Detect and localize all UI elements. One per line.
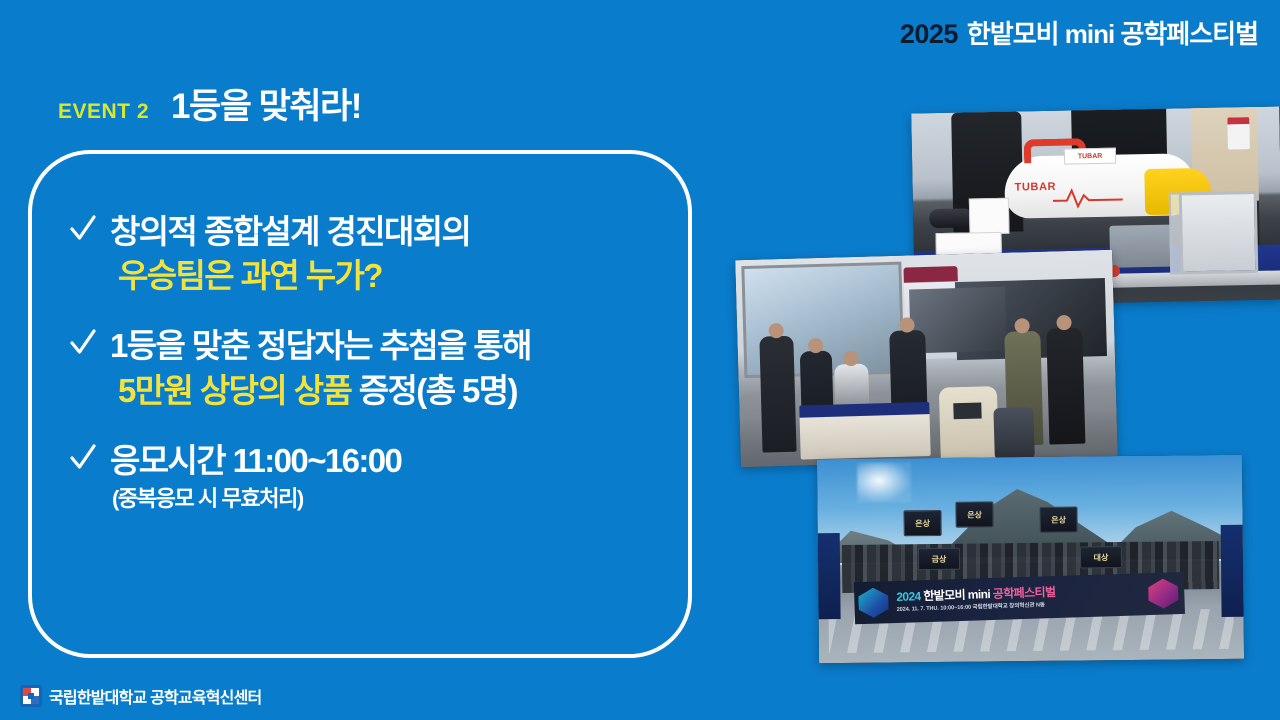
- event-title-row: EVENT 2 1등을 맞춰라!: [58, 78, 361, 129]
- banner-year: 2024: [896, 589, 921, 604]
- award-placard: 은상: [1039, 507, 1077, 533]
- check-icon: [70, 214, 96, 250]
- hanbat-university-logo-icon: [20, 685, 42, 707]
- footer: 국립한밭대학교 공학교육혁신센터: [20, 684, 261, 708]
- page-title: 1등을 맞춰라!: [171, 78, 361, 129]
- check-icon: [70, 328, 96, 364]
- award-placard: 은상: [903, 510, 941, 536]
- check-icon: [70, 443, 96, 479]
- photo-student-team-booth: 창의적 종합설계 경진대회 부스 앞 학생 팀 단체 사진: [735, 250, 1118, 467]
- award-placard: 은상: [955, 501, 993, 527]
- bullet-item: 1등을 맞춘 정답자는 추첨을 통해 5만원 상당의 상품 증정(총 5명): [70, 324, 654, 412]
- bullet-highlight: 우승팀은 과연 누가?: [118, 257, 382, 294]
- banner-name-2: 공학페스티벌: [993, 585, 1056, 601]
- bullet-line-2: 우승팀은 과연 누가?: [110, 254, 654, 298]
- bullet-note: (중복응모 시 무효처리): [110, 485, 654, 514]
- photo-group-award-banner: 은상 은상 은상 금상 대상 2024 한밭모비 mini 공학페스티벌 202…: [817, 455, 1244, 663]
- bullet-item: 응모시간 11:00~16:00 (중복응모 시 무효처리): [70, 439, 654, 514]
- device-label: TUBAR: [1015, 181, 1057, 194]
- bullet-body: 1등을 맞춘 정답자는 추첨을 통해 5만원 상당의 상품 증정(총 5명): [110, 324, 654, 412]
- bullet-body: 창의적 종합설계 경진대회의 우승팀은 과연 누가?: [110, 210, 654, 298]
- brand-festival-name: 한밭모비 mini 공학페스티벌: [967, 14, 1258, 51]
- brand-year: 2025: [900, 19, 958, 50]
- bullet-body: 응모시간 11:00~16:00 (중복응모 시 무효처리): [110, 439, 654, 514]
- slide-root: 2025 한밭모비 mini 공학페스티벌 EVENT 2 1등을 맞춰라! 창…: [0, 0, 1280, 720]
- bullet-tail: 증정(총 5명): [351, 372, 517, 409]
- event-tag: EVENT 2: [58, 100, 149, 124]
- award-placard: 금상: [918, 548, 960, 570]
- bullet-line-2: 5만원 상당의 상품 증정(총 5명): [110, 369, 654, 413]
- bullet-line-1: 응모시간 11:00~16:00: [110, 439, 654, 483]
- brand-bar: 2025 한밭모비 mini 공학페스티벌: [900, 14, 1258, 51]
- bullet-item: 창의적 종합설계 경진대회의 우승팀은 과연 누가?: [70, 210, 654, 298]
- bullet-highlight: 5만원 상당의 상품: [118, 372, 351, 409]
- footer-organization: 국립한밭대학교 공학교육혁신센터: [49, 684, 261, 708]
- event-info-box: 창의적 종합설계 경진대회의 우승팀은 과연 누가? 1등을 맞춘 정답자는 추…: [28, 150, 692, 658]
- bullet-line-1: 1등을 맞춘 정답자는 추첨을 통해: [110, 324, 654, 368]
- bullet-line-1: 창의적 종합설계 경진대회의: [110, 210, 654, 254]
- device-sign: TUBAR: [1064, 148, 1116, 165]
- award-placard: 대상: [1080, 546, 1122, 568]
- banner-name-1: 한밭모비 mini: [923, 587, 993, 603]
